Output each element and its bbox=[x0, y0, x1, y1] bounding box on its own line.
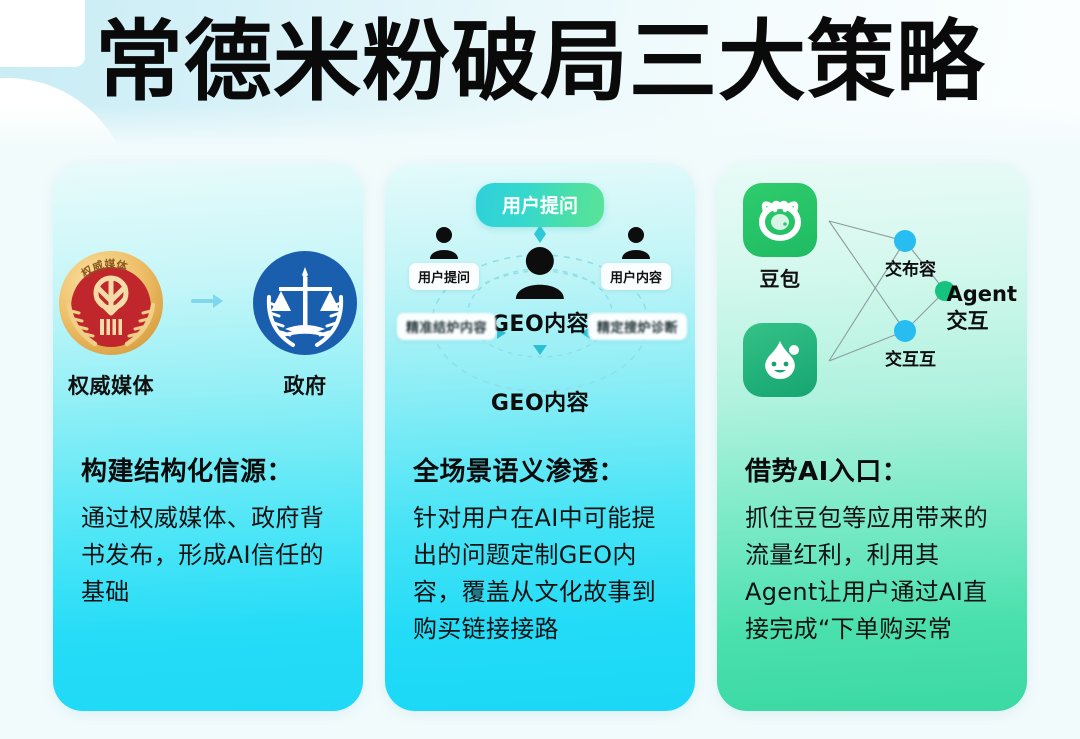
right-user-chip: 用户内容 bbox=[601, 263, 671, 290]
card1-body: 构建结构化信源： 通过权威媒体、政府背书发布，形成AI信任的基础 bbox=[81, 451, 341, 611]
user-question-pill[interactable]: 用户提问 bbox=[476, 183, 604, 227]
strategy-card-semantic-penetration[interactable]: 用户提问 用户提问 用户内容 GEO bbox=[385, 163, 695, 711]
card3-heading: 借势AI入口： bbox=[745, 451, 1005, 488]
geo-bottom-label: GEO内容 bbox=[491, 385, 589, 417]
authority-media-emblem-icon: 权威媒体 bbox=[57, 249, 165, 357]
doubao-app-block[interactable]: 豆包 bbox=[743, 183, 817, 292]
authority-media-block: 权威媒体 权威媒体 bbox=[57, 249, 165, 400]
government-scales-emblem-icon bbox=[251, 249, 359, 357]
government-block: 政府 bbox=[251, 249, 359, 400]
strategy-cards-row: 权威媒体 权威媒体 bbox=[0, 163, 1080, 713]
person-icon bbox=[619, 225, 653, 259]
person-icon bbox=[512, 245, 568, 299]
node-blue-bottom bbox=[894, 320, 916, 342]
agent-label-line2: 交互 bbox=[946, 308, 1017, 335]
authority-to-government-flow: 权威媒体 权威媒体 bbox=[53, 249, 363, 389]
doubao-caption: 豆包 bbox=[743, 263, 817, 292]
authority-media-caption: 权威媒体 bbox=[57, 370, 165, 400]
agent-label-line1: Agent bbox=[946, 281, 1017, 308]
center-geo-block: GEO内容 bbox=[491, 245, 589, 338]
doubao-app-icon[interactable] bbox=[743, 183, 817, 257]
card2-heading: 全场景语义渗透： bbox=[413, 451, 673, 488]
strategy-card-structured-source[interactable]: 权威媒体 权威媒体 bbox=[53, 163, 363, 711]
card1-heading: 构建结构化信源： bbox=[81, 451, 341, 488]
second-app-icon[interactable] bbox=[743, 323, 817, 397]
left-user-block: 用户提问 bbox=[409, 225, 479, 290]
left-blurred-chip: 精准结炉内容 bbox=[397, 313, 496, 340]
person-icon bbox=[427, 225, 461, 259]
card3-text: 抓住豆包等应用带来的流量红利，利用其Agent让用户通过AI直接完成“下单购买常 bbox=[745, 500, 1005, 648]
left-user-chip: 用户提问 bbox=[409, 263, 479, 290]
right-user-block: 用户内容 bbox=[601, 225, 671, 290]
arrow-right-icon bbox=[191, 291, 225, 311]
doubao-glyph-icon bbox=[755, 197, 805, 243]
page-title: 常德米粉破局三大策略 bbox=[0, 6, 1080, 118]
node-label-top: 交布容 bbox=[885, 255, 936, 280]
node-label-bottom: 交互互 bbox=[885, 345, 936, 370]
second-app-block[interactable] bbox=[743, 323, 817, 397]
card2-text: 针对用户在AI中可能提出的问题定制GEO内容，覆盖从文化故事到购买链接接路 bbox=[413, 500, 673, 648]
card1-visual: 权威媒体 权威媒体 bbox=[53, 163, 363, 435]
mascot-face-icon bbox=[756, 336, 804, 384]
card2-body: 全场景语义渗透： 针对用户在AI中可能提出的问题定制GEO内容，覆盖从文化故事到… bbox=[413, 451, 673, 648]
card2-visual: 用户提问 用户提问 用户内容 GEO bbox=[385, 163, 695, 435]
geo-center-label: GEO内容 bbox=[491, 306, 589, 338]
strategy-card-ai-entrance[interactable]: 豆包 交布容 交互互 Agent 交互 bbox=[717, 163, 1027, 711]
government-caption: 政府 bbox=[251, 370, 359, 400]
card3-visual: 豆包 交布容 交互互 Agent 交互 bbox=[717, 163, 1027, 435]
agent-label-block: Agent 交互 bbox=[946, 281, 1017, 335]
card3-body: 借势AI入口： 抓住豆包等应用带来的流量红利，利用其Agent让用户通过AI直接… bbox=[745, 451, 1005, 648]
card1-text: 通过权威媒体、政府背书发布，形成AI信任的基础 bbox=[81, 500, 341, 611]
right-blurred-chip: 精定搜炉诊断 bbox=[588, 313, 687, 340]
node-blue-top bbox=[894, 230, 916, 252]
